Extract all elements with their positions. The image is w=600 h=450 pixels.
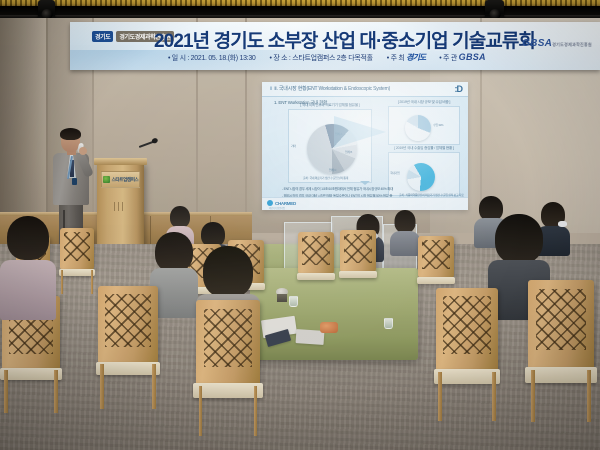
- chair-seat: [0, 368, 62, 381]
- audience-torso: [390, 231, 420, 256]
- audience-member: [0, 216, 56, 320]
- chair-seat: [297, 273, 336, 280]
- chair: [298, 232, 334, 274]
- chair: [436, 288, 498, 372]
- slide-footer-logo-sub: 의료기기 전문기업: [269, 206, 285, 210]
- presenter-hair: [60, 128, 81, 140]
- table-center: [250, 268, 418, 360]
- chair: [60, 228, 94, 270]
- banner-meta-date: • 일 시 : 2021. 05. 18.(화) 13:30: [168, 53, 256, 63]
- banner-tag-left: 경기도: [92, 31, 113, 42]
- chair-lattice: [536, 289, 586, 350]
- chair-leg: [254, 386, 258, 436]
- chair-leg: [199, 386, 203, 436]
- audience-head: [395, 210, 416, 233]
- chair-seat: [339, 271, 378, 278]
- ceiling-dark-band: [0, 6, 600, 15]
- banner-title: 2021년 경기도 소부장 산업 대·중소기업 기술교류회: [154, 26, 535, 53]
- audience-member: [390, 210, 420, 256]
- chair-leg: [61, 270, 63, 294]
- chair-leg: [492, 372, 496, 421]
- audience-head: [155, 232, 193, 272]
- wall-shadow: [0, 18, 52, 233]
- chair: [98, 286, 158, 364]
- gbsa-logo: GBSA: [459, 52, 486, 62]
- banner-meta-host: • 주 최 경기도: [387, 52, 425, 63]
- chair-lattice: [443, 296, 490, 353]
- chair: [196, 300, 260, 386]
- banner-meta-place: • 장 소 : 스타트업캠퍼스 2층 다목적홀: [270, 53, 373, 63]
- snack-item: [320, 322, 338, 333]
- gbsa-logo-right: GBSA경기도경제과학진흥원: [522, 38, 592, 49]
- audience-head: [7, 216, 49, 260]
- chair-leg: [4, 370, 7, 413]
- banner-meta-organizer: • 주 관 GBSA: [439, 52, 486, 63]
- pie-import-annotation: 수입 31%: [433, 123, 443, 127]
- audience-head: [495, 214, 543, 264]
- audience-torso: [0, 260, 56, 320]
- chair: [418, 236, 454, 278]
- presenter-name-badge: [72, 178, 77, 185]
- gyeonggi-logo: 경기도: [406, 53, 425, 62]
- startup-campus-mark-icon: [103, 176, 110, 183]
- pie-label-other: 기타: [291, 144, 296, 148]
- chair-seat: [96, 362, 161, 375]
- chair-seat: [417, 277, 456, 284]
- chair-leg: [54, 370, 57, 413]
- chart-main-source: 출처 : 국내 의료기기 생산·수출입 실적 통계: [303, 176, 348, 180]
- chair-lattice: [64, 232, 90, 261]
- audience-head: [170, 206, 190, 228]
- chevron-down-icon: [360, 181, 370, 185]
- face-mask: [558, 221, 567, 227]
- chart-import-title: [ 2019년 국내 시장 규모 및 수입 비중 ]: [389, 100, 459, 105]
- audience-head: [203, 246, 253, 298]
- drink-cup: [289, 296, 298, 307]
- podium-logo-text: 스타트업캠퍼스: [112, 177, 139, 183]
- presentation-slide: ⅡⅡ. 국내시장 현황(ENT Workstation & Endoscopic…: [262, 82, 468, 210]
- presenter-hand: [79, 147, 87, 155]
- chair: [340, 230, 376, 272]
- slide-footer: CHARMED 의료기기 전문기업: [262, 197, 468, 210]
- chair-leg: [152, 364, 156, 409]
- chart-vendor-title: [ 2019년 국내 수출입 증감률 / 업체별 현황 ]: [389, 146, 459, 151]
- drink-cup: [384, 318, 393, 329]
- chair-leg: [438, 372, 442, 421]
- table-decor-plant: [276, 288, 288, 302]
- slide-brand-mark: :D: [455, 84, 463, 94]
- conference-photo-scene: 경기도 경기도경제과학진흥원 2021년 경기도 소부장 산업 대·중소기업 기…: [0, 0, 600, 450]
- event-banner: 경기도 경기도경제과학진흥원 2021년 경기도 소부장 산업 대·중소기업 기…: [70, 22, 600, 70]
- pie-label-c: 업체 C: [329, 168, 336, 172]
- slide-header: ⅡⅡ. 국내시장 현황(ENT Workstation & Endoscopic…: [270, 85, 390, 92]
- pie-import-label: 국내생산: [408, 125, 418, 129]
- plant-pot: [277, 294, 287, 302]
- chair-leg: [531, 370, 535, 422]
- chair-seat: [434, 369, 501, 383]
- pie-vendor-label: 국내기업: [390, 171, 400, 175]
- slide-bullet-1: - ENT시장의 경우 세계 시장이 1.5조/10조원대에서 전체 점유가 국…: [282, 186, 452, 191]
- pie-label-b: 업체 B: [345, 150, 352, 154]
- chair-seat: [193, 383, 262, 398]
- podium-detail-grooves: [114, 202, 126, 211]
- chair: [528, 280, 594, 370]
- chair-lattice: [105, 294, 151, 347]
- chair-lattice: [344, 234, 371, 263]
- chart-import-share: [ 2019년 국내 시장 규모 및 수입 비중 ] 수입 31% 국내생산: [388, 106, 460, 145]
- banner-meta: • 일 시 : 2021. 05. 18.(화) 13:30 • 장 소 : 스…: [168, 52, 486, 63]
- projection-screen: ⅡⅡ. 국내시장 현황(ENT Workstation & Endoscopic…: [262, 82, 468, 210]
- podium-logo-panel: 스타트업캠퍼스: [101, 171, 140, 188]
- chair-seat: [525, 367, 596, 382]
- chair-leg: [100, 364, 104, 409]
- chair-leg: [587, 370, 591, 422]
- slide-header-mark: Ⅱ: [270, 86, 272, 92]
- chart-main-title: [ 국내 이비인후과 의료기기 업체별 점유율 ]: [289, 103, 371, 108]
- podium: 스타트업캠퍼스: [97, 162, 144, 248]
- chair-lattice: [204, 309, 253, 367]
- chair-leg: [91, 270, 93, 294]
- podium-top-surface: [94, 158, 147, 165]
- chair-lattice: [422, 240, 449, 269]
- chair-lattice: [302, 236, 329, 265]
- pie-callout-wedge: [334, 116, 386, 148]
